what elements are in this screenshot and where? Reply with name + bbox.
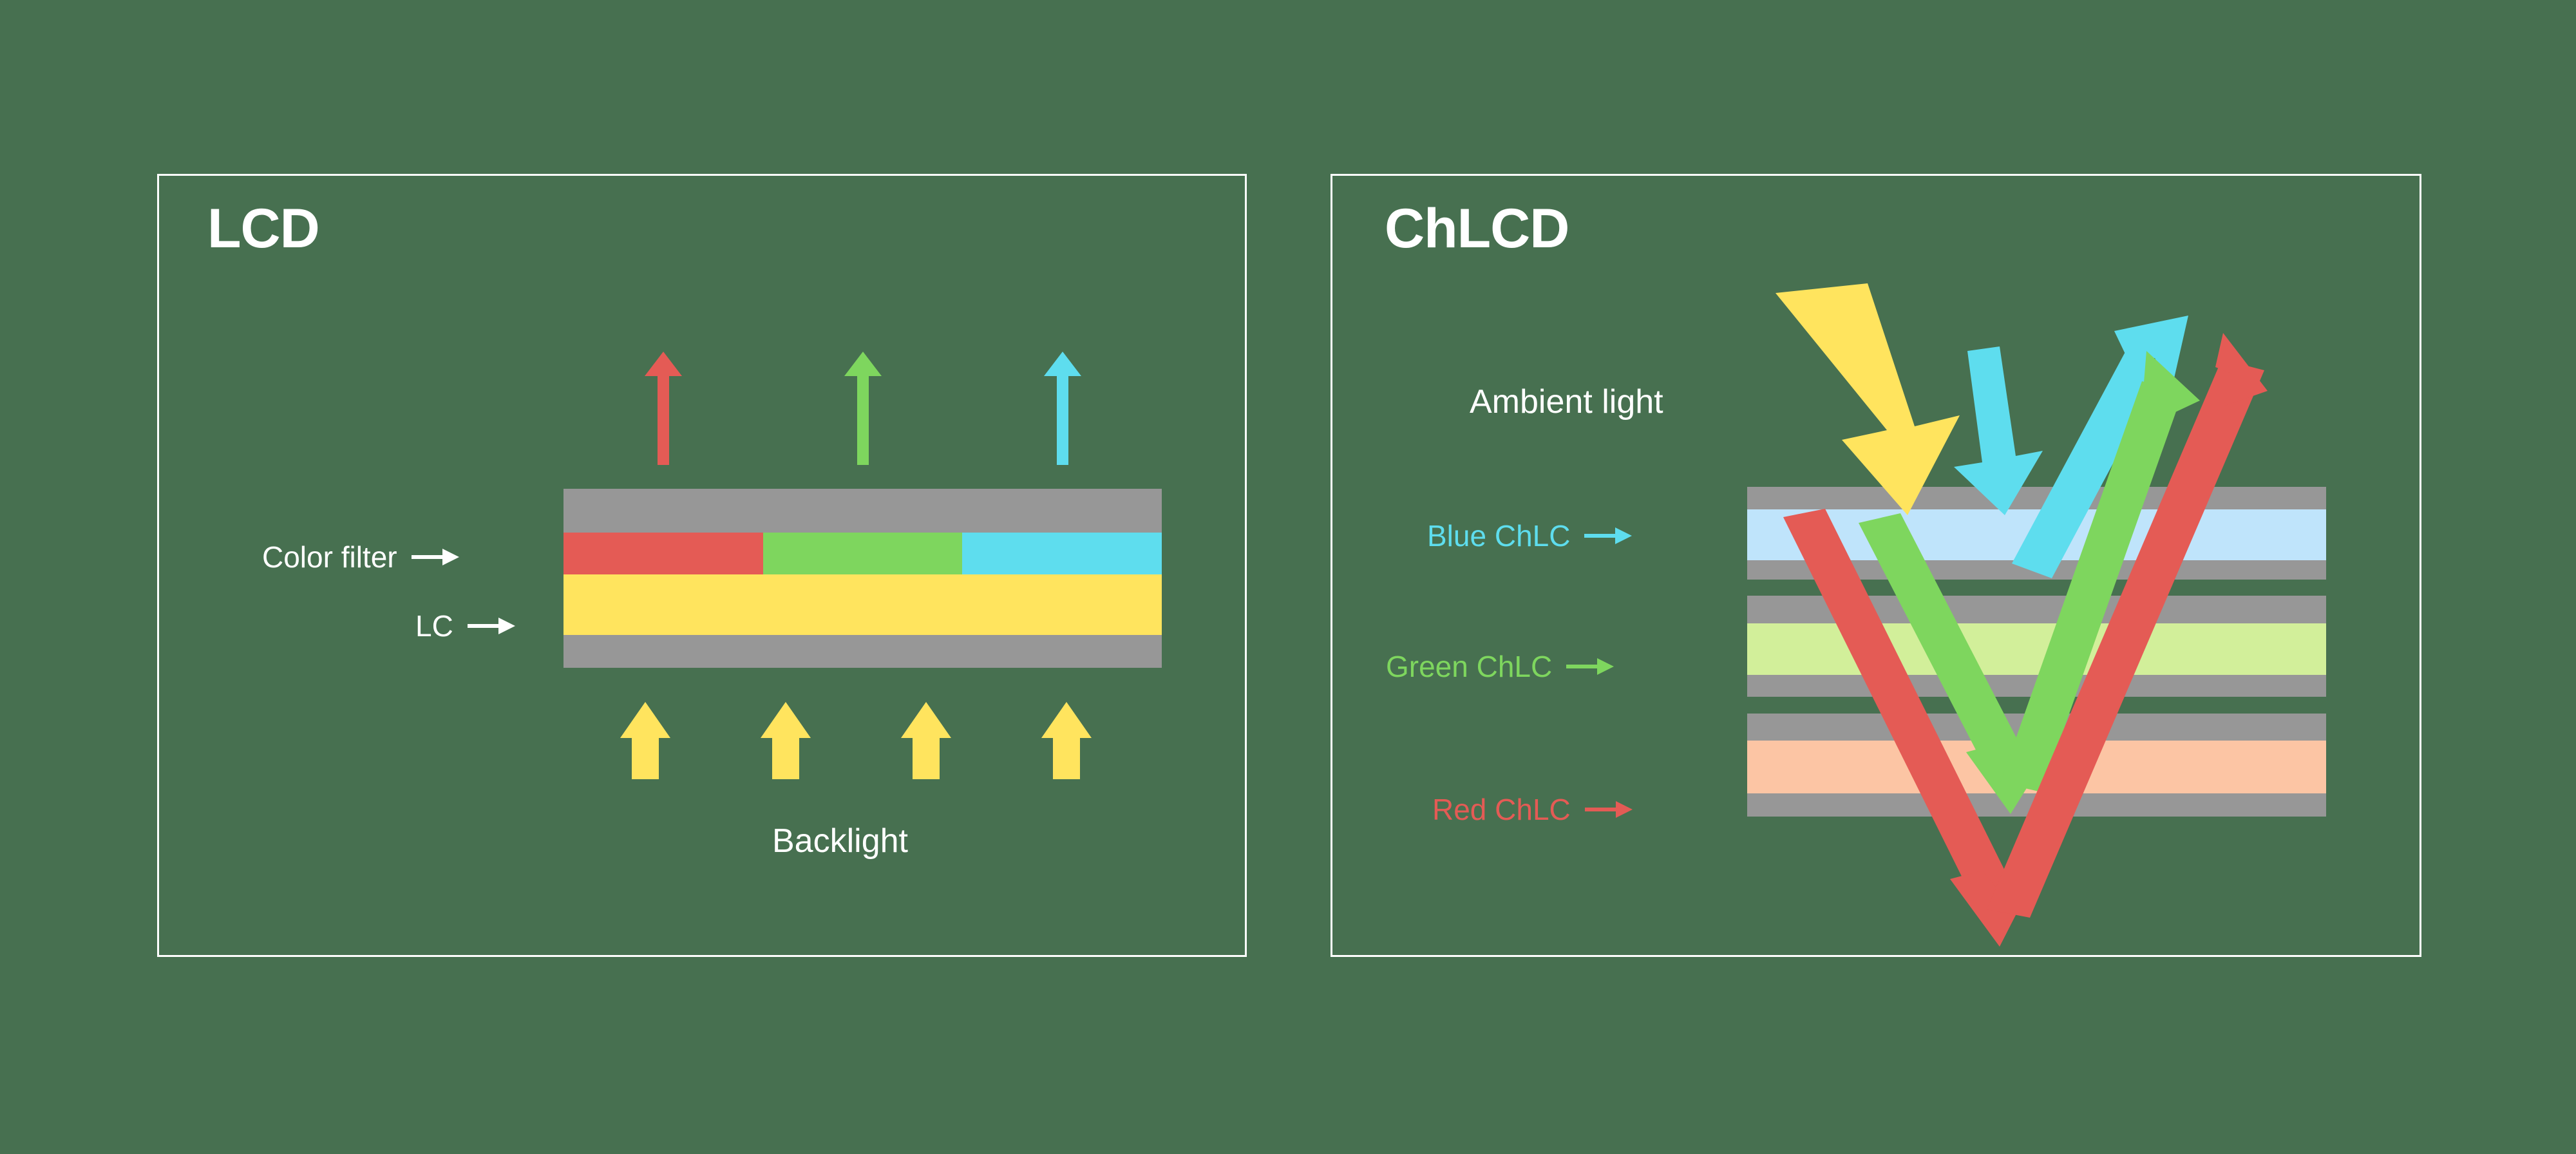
red-chlc-label: Red ChLC (1432, 792, 1571, 827)
color-filter-label: Color filter (262, 540, 397, 574)
green-chlc-label-row: Green ChLC (1386, 649, 1614, 684)
diagram-canvas: LCD Color filter LC (0, 0, 2576, 1154)
blue-chlc-layer (1747, 509, 2326, 560)
red-chlc-label-row: Red ChLC (1432, 792, 1633, 827)
arrow-right-icon (1584, 534, 1632, 538)
color-filter-green-segment (763, 533, 963, 574)
blue-chlc-label: Blue ChLC (1427, 518, 1570, 553)
ambient-light-label: Ambient light (1470, 385, 1663, 419)
lcd-emitted-red-arrow (645, 352, 682, 465)
lc-label: LC (415, 609, 453, 643)
arrow-shaft (632, 737, 659, 779)
arrow-shaft (857, 376, 869, 465)
backlight-arrow-2 (761, 702, 811, 779)
lcd-emitted-green-arrow (844, 352, 882, 465)
blue-cell-bottom-electrode (1747, 560, 2326, 580)
lcd-layer-stack (563, 489, 1162, 668)
arrow-head-icon (761, 702, 811, 738)
green-chlc-layer (1747, 623, 2326, 675)
green-cell-bottom-electrode (1747, 675, 2326, 697)
green-cell-top-electrode (1747, 596, 2326, 623)
green-chlc-label: Green ChLC (1386, 649, 1552, 684)
arrow-head-icon (901, 702, 951, 738)
blue-chlc-cell (1747, 487, 2326, 580)
backlight-arrow-1 (620, 702, 670, 779)
backlight-arrow-3 (901, 702, 951, 779)
arrow-right-icon (1566, 665, 1614, 668)
arrow-shaft (913, 737, 940, 779)
arrow-shaft (772, 737, 799, 779)
backlight-label: Backlight (772, 824, 908, 858)
arrow-head-icon (1044, 352, 1081, 376)
blue-cell-top-electrode (1747, 487, 2326, 509)
lcd-color-filter-layer (563, 533, 1162, 574)
lcd-emitted-blue-arrow (1044, 352, 1081, 465)
lc-label-row: LC (415, 609, 515, 643)
arrow-shaft (1053, 737, 1080, 779)
lcd-bottom-electrode-layer (563, 635, 1162, 668)
arrow-head-icon (844, 352, 882, 376)
chlcd-panel-title: ChLCD (1385, 201, 1569, 256)
arrow-head-icon (645, 352, 682, 376)
color-filter-red-segment (563, 533, 763, 574)
arrow-head-icon (620, 702, 670, 738)
color-filter-label-row: Color filter (262, 540, 459, 574)
green-chlc-cell (1747, 596, 2326, 697)
blue-chlc-label-row: Blue ChLC (1427, 518, 1632, 553)
arrow-shaft (1057, 376, 1068, 465)
lcd-top-electrode-layer (563, 489, 1162, 533)
lcd-panel-title: LCD (207, 201, 319, 256)
red-cell-top-electrode (1747, 714, 2326, 741)
arrow-right-icon (1585, 808, 1633, 811)
backlight-arrow-4 (1041, 702, 1092, 779)
red-chlc-cell (1747, 714, 2326, 817)
arrow-shaft (658, 376, 669, 465)
lcd-liquid-crystal-layer (563, 574, 1162, 635)
color-filter-blue-segment (962, 533, 1162, 574)
chlcd-layer-stack (1747, 487, 2326, 817)
red-cell-bottom-electrode (1747, 793, 2326, 817)
red-chlc-layer (1747, 741, 2326, 793)
arrow-head-icon (1041, 702, 1092, 738)
arrow-right-icon (412, 555, 459, 559)
arrow-right-icon (468, 624, 515, 628)
